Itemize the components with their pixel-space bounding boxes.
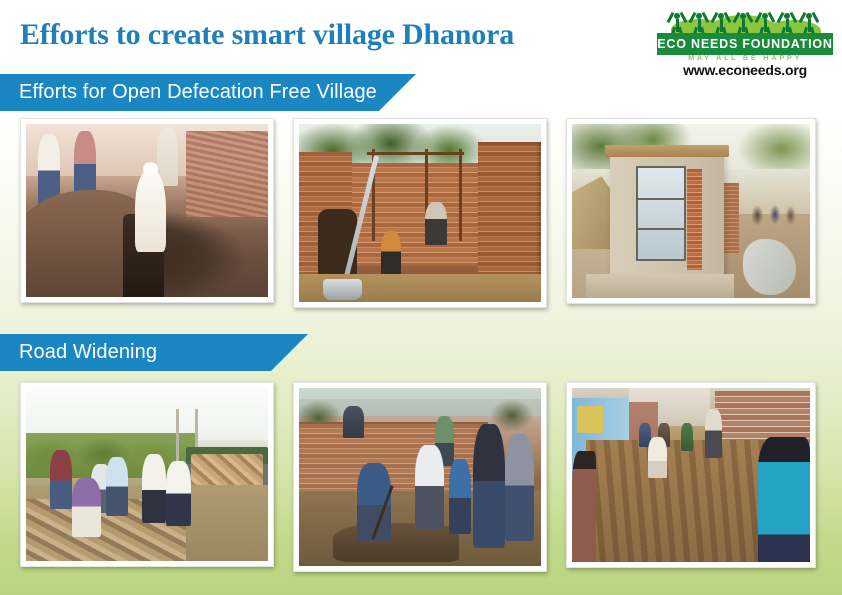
section-label-odf: Efforts for Open Defecation Free Village <box>19 74 377 111</box>
eco-needs-foundation-logo: ECO NEEDS FOUNDATION MAY ALL BE HAPPY ww… <box>657 8 833 64</box>
photo-loading-stones-on-trolley <box>26 388 268 561</box>
section-banner-odf: Efforts for Open Defecation Free Village <box>0 74 416 111</box>
photo-row-odf <box>0 118 842 308</box>
photo-frame-widened-village-lane <box>566 382 816 568</box>
photo-frame-brick-toilet-under-construction <box>293 118 547 308</box>
photo-completed-toilet <box>572 124 810 298</box>
logo-tagline: MAY ALL BE HAPPY <box>657 53 833 62</box>
logo-website-url: www.econeeds.org <box>657 62 833 78</box>
photo-frame-digging-along-brick-wall <box>293 382 547 572</box>
photo-widened-village-lane <box>572 388 810 562</box>
photo-digging-along-brick-wall <box>299 388 541 566</box>
logo-organisation-name: ECO NEEDS FOUNDATION <box>657 37 833 51</box>
photo-row-road <box>0 382 842 572</box>
poster-header: Efforts to create smart village Dhanora <box>0 0 842 74</box>
logo-name-bar: ECO NEEDS FOUNDATION <box>657 33 833 55</box>
poster-canvas: Efforts to create smart village Dhanora <box>0 0 842 595</box>
page-title: Efforts to create smart village Dhanora <box>20 18 514 52</box>
section-banner-road: Road Widening <box>0 334 308 371</box>
photo-villager-digging-soak-pit <box>26 124 268 297</box>
section-label-road: Road Widening <box>19 334 157 371</box>
photo-brick-toilet-under-construction <box>299 124 541 302</box>
logo-mark: ECO NEEDS FOUNDATION <box>657 8 833 48</box>
photo-frame-loading-stones-on-trolley <box>20 382 274 567</box>
celebrating-people-icon <box>667 8 823 34</box>
photo-frame-completed-toilet <box>566 118 816 304</box>
photo-frame-villager-digging-soak-pit <box>20 118 274 303</box>
